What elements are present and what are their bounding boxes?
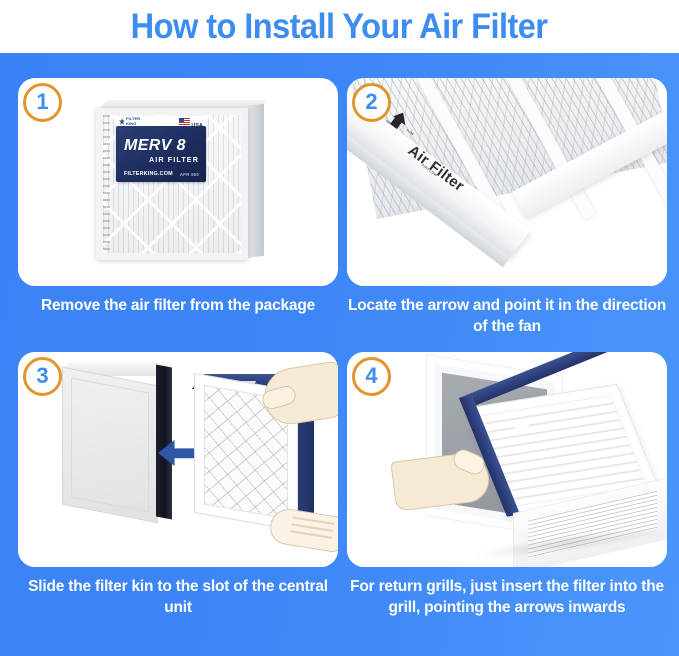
filter-label-blue: MERV 8 AIR FILTER FILTERKING.COM APR 650 bbox=[116, 126, 206, 182]
product-type-text: AIR FILTER bbox=[149, 156, 199, 163]
filter-king-logo: FILTER KING bbox=[119, 117, 140, 125]
page-title: How to Install Your Air Filter bbox=[131, 9, 548, 44]
filter-product: FILTER KING MADE IN USA bbox=[96, 100, 266, 262]
step-number-2: 2 bbox=[365, 91, 377, 113]
step-number-badge-4: 4 bbox=[352, 357, 391, 396]
step-panel-1: FILTER KING MADE IN USA bbox=[18, 78, 338, 317]
crown-icon bbox=[119, 118, 125, 125]
label-footer: FILTERKING.COM APR 650 bbox=[124, 171, 199, 177]
step-caption-1: Remove the air filter from the package bbox=[18, 296, 338, 317]
hand-lower bbox=[268, 506, 338, 553]
usa-flag-icon bbox=[179, 118, 190, 125]
step-number-3: 3 bbox=[36, 365, 48, 387]
unit-front-face bbox=[62, 367, 158, 524]
step-3-card: 3 bbox=[18, 352, 338, 567]
steps-grid: FILTER KING MADE IN USA bbox=[0, 53, 679, 656]
insert-filter-return-grill-illustration bbox=[347, 352, 667, 567]
step-4-card: 4 bbox=[347, 352, 667, 567]
filter-frame-ticks bbox=[103, 115, 110, 253]
filter-front-face: FILTER KING MADE IN USA bbox=[96, 108, 248, 260]
website-text: FILTERKING.COM bbox=[124, 171, 173, 177]
filter-corner-arrow-closeup: AIR FLOW Air Filter AIRFLOW bbox=[347, 78, 667, 286]
step-2-card: AIR FLOW Air Filter AIRFLOW 2 bbox=[347, 78, 667, 286]
step-number-4: 4 bbox=[365, 365, 377, 387]
step-number-badge-3: 3 bbox=[23, 357, 62, 396]
step-1-card: FILTER KING MADE IN USA bbox=[18, 78, 338, 286]
step-caption-4: For return grills, just insert the filte… bbox=[347, 577, 667, 618]
step-number-badge-2: 2 bbox=[352, 83, 391, 122]
header-bar: How to Install Your Air Filter bbox=[0, 0, 679, 53]
slide-filter-into-slot-illustration bbox=[18, 352, 338, 567]
infographic-page: How to Install Your Air Filter bbox=[0, 0, 679, 656]
unit-slot-opening bbox=[156, 364, 172, 519]
step-number-1: 1 bbox=[36, 91, 48, 113]
step-caption-2: Locate the arrow and point it in the dir… bbox=[347, 296, 667, 337]
step-panel-3: 3 Slide the filter kin to the slot of th… bbox=[18, 352, 338, 618]
merv-rating-text: MERV 8 bbox=[124, 138, 186, 154]
brand-text: FILTER KING bbox=[126, 117, 140, 125]
step-number-badge-1: 1 bbox=[23, 83, 62, 122]
apr-rating-text: APR 650 bbox=[180, 172, 199, 177]
air-filter-product-photo: FILTER KING MADE IN USA bbox=[18, 78, 338, 286]
made-in-text: MADE IN bbox=[191, 111, 203, 114]
step-panel-2: AIR FLOW Air Filter AIRFLOW 2 Locate the… bbox=[347, 78, 667, 337]
filter-corner-assembly: AIR FLOW Air Filter AIRFLOW bbox=[347, 78, 667, 279]
step-caption-3: Slide the filter kin to the slot of the … bbox=[18, 577, 338, 618]
central-unit-slot bbox=[62, 366, 170, 518]
step-panel-4: 4 For return grills, just insert the fil… bbox=[347, 352, 667, 618]
